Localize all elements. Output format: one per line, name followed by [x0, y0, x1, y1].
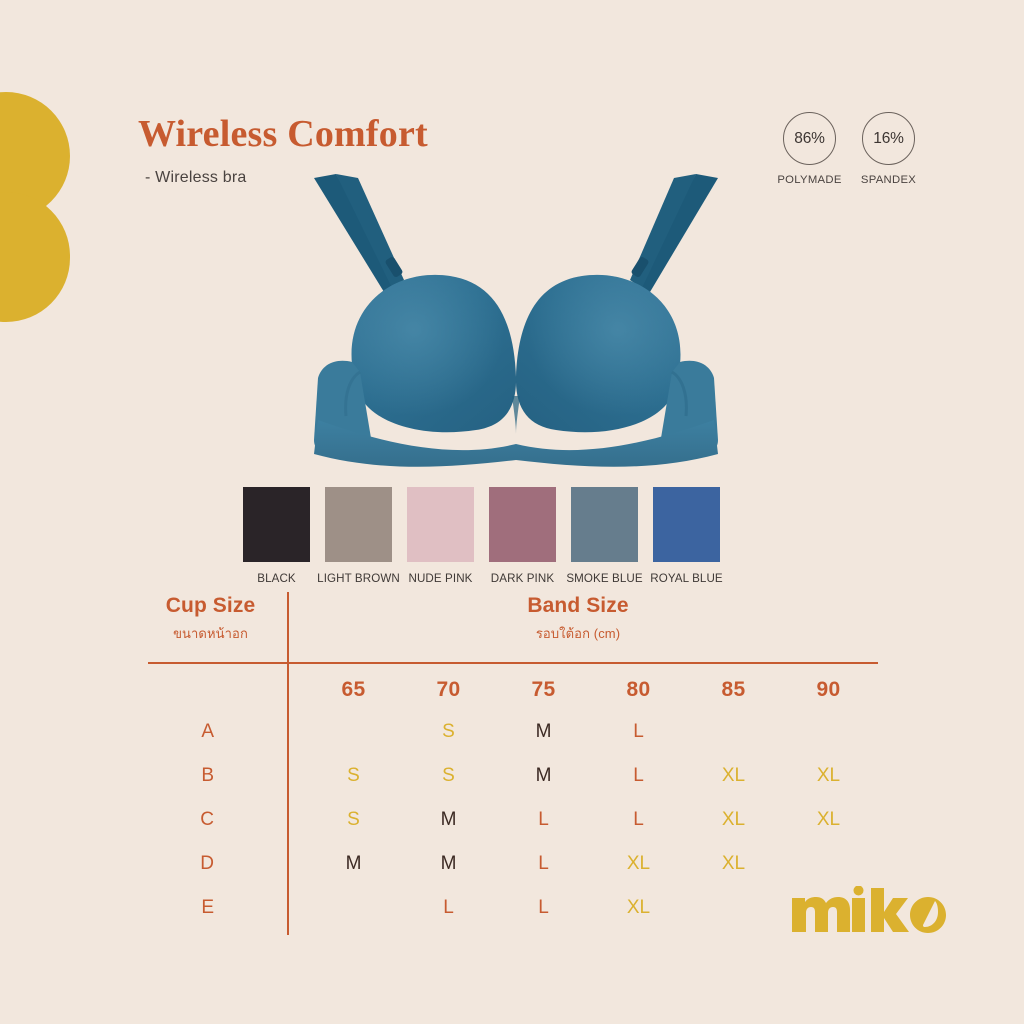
- swatch-chip: [325, 487, 392, 562]
- size-cell: S: [306, 809, 401, 831]
- cup-size-c: C: [148, 809, 228, 831]
- band-size-70: 70: [401, 678, 496, 702]
- composition-badge-spandex: 16% SPANDEX: [860, 112, 917, 186]
- color-swatch-dark-pink[interactable]: DARK PINK: [489, 487, 556, 585]
- size-cell: M: [496, 721, 591, 743]
- composition-value: 16%: [873, 130, 903, 148]
- table-row: E L L XL: [148, 886, 878, 930]
- band-size-90: 90: [781, 678, 876, 702]
- color-swatch-smoke-blue[interactable]: SMOKE BLUE: [571, 487, 638, 585]
- band-size-header-en: Band Size: [413, 594, 743, 618]
- band-size-header-th: รอบใต้อก (cm): [413, 623, 743, 644]
- size-table: Cup Size ขนาดหน้าอก Band Size รอบใต้อก (…: [148, 592, 878, 937]
- size-cell: S: [401, 721, 496, 743]
- size-cell: XL: [781, 765, 876, 787]
- size-cell: M: [401, 853, 496, 875]
- size-cell: M: [401, 809, 496, 831]
- color-swatch-nude-pink[interactable]: NUDE PINK: [407, 487, 474, 585]
- table-row: D M M L XL XL: [148, 842, 878, 886]
- cup-size-header-th: ขนาดหน้าอก: [148, 623, 273, 644]
- swatch-chip: [489, 487, 556, 562]
- size-cell: XL: [591, 853, 686, 875]
- cup-size-header: Cup Size ขนาดหน้าอก: [148, 594, 273, 644]
- band-size-85: 85: [686, 678, 781, 702]
- composition-material: SPANDEX: [861, 174, 916, 186]
- swatch-chip: [653, 487, 720, 562]
- cup-size-d: D: [148, 853, 228, 875]
- size-chart-page: Wireless Comfort - Wireless bra 86% POLY…: [0, 0, 1024, 1024]
- size-cell: XL: [686, 809, 781, 831]
- product-image: [300, 172, 732, 480]
- size-cell: S: [306, 765, 401, 787]
- band-size-75: 75: [496, 678, 591, 702]
- size-cell: L: [591, 809, 686, 831]
- size-cell: M: [496, 765, 591, 787]
- page-subtitle: - Wireless bra: [145, 169, 246, 187]
- table-row: A S M L: [148, 710, 878, 754]
- size-cell: XL: [591, 897, 686, 919]
- color-swatches: BLACK LIGHT BROWN NUDE PINK DARK PINK SM…: [243, 487, 720, 585]
- composition-badges: 86% POLYMADE 16% SPANDEX: [781, 112, 917, 186]
- swatch-label: DARK PINK: [491, 572, 554, 585]
- swatch-chip: [571, 487, 638, 562]
- page-title: Wireless Comfort: [138, 112, 428, 156]
- size-cell: XL: [686, 853, 781, 875]
- percent-ring-icon: 16%: [862, 112, 915, 165]
- size-cell: L: [496, 809, 591, 831]
- color-swatch-light-brown[interactable]: LIGHT BROWN: [325, 487, 392, 585]
- size-cell: L: [401, 897, 496, 919]
- size-cell: L: [591, 765, 686, 787]
- cup-size-a: A: [148, 721, 228, 743]
- decorative-blob: [0, 92, 70, 322]
- table-row: C S M L L XL XL: [148, 798, 878, 842]
- color-swatch-royal-blue[interactable]: ROYAL BLUE: [653, 487, 720, 585]
- composition-badge-polymade: 86% POLYMADE: [781, 112, 838, 186]
- size-cell: L: [496, 897, 591, 919]
- table-header-row: 65 70 75 80 85 90: [148, 670, 878, 710]
- band-size-65: 65: [306, 678, 401, 702]
- cup-size-e: E: [148, 897, 228, 919]
- band-size-header: Band Size รอบใต้อก (cm): [413, 594, 743, 644]
- size-cell: XL: [781, 809, 876, 831]
- swatch-label: BLACK: [257, 572, 296, 585]
- swatch-label: SMOKE BLUE: [566, 572, 642, 585]
- percent-ring-icon: 86%: [783, 112, 836, 165]
- size-cell: M: [306, 853, 401, 875]
- brand-logo: [790, 886, 950, 934]
- swatch-label: ROYAL BLUE: [650, 572, 723, 585]
- color-swatch-black[interactable]: BLACK: [243, 487, 310, 585]
- size-cell: L: [591, 721, 686, 743]
- table-row: B S S M L XL XL: [148, 754, 878, 798]
- cup-size-b: B: [148, 765, 228, 787]
- composition-value: 86%: [794, 130, 824, 148]
- composition-material: POLYMADE: [777, 174, 841, 186]
- size-grid: 65 70 75 80 85 90 A S M L B S: [148, 670, 878, 930]
- band-size-80: 80: [591, 678, 686, 702]
- swatch-chip: [243, 487, 310, 562]
- table-horizontal-rule: [148, 662, 878, 664]
- swatch-chip: [407, 487, 474, 562]
- size-cell: S: [401, 765, 496, 787]
- size-cell: L: [496, 853, 591, 875]
- swatch-label: LIGHT BROWN: [317, 572, 400, 585]
- swatch-label: NUDE PINK: [408, 572, 472, 585]
- cup-size-header-en: Cup Size: [148, 594, 273, 618]
- size-cell: XL: [686, 765, 781, 787]
